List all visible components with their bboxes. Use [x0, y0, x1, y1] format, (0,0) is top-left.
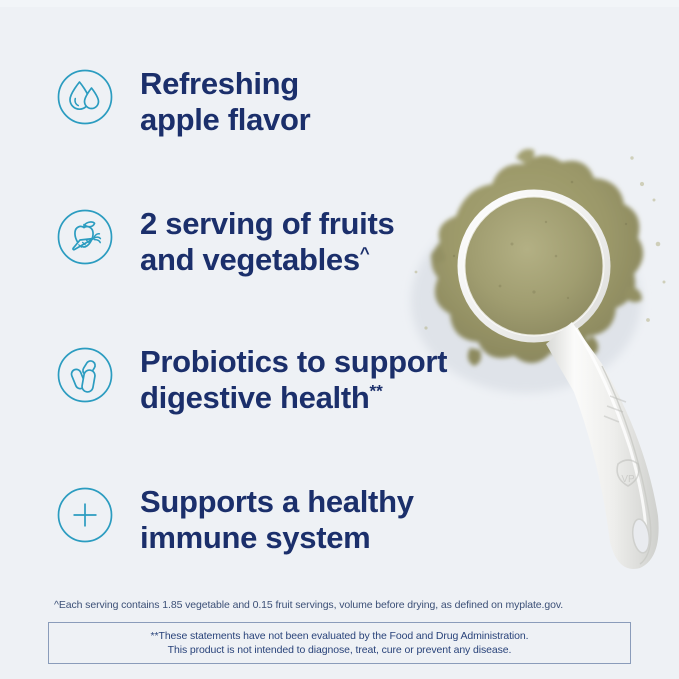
- feature-superscript: ^: [360, 244, 370, 263]
- plus-icon: [56, 486, 114, 544]
- feature-line-2: digestive health**: [140, 380, 447, 416]
- feature-line-1: 2 serving of fruits: [140, 206, 394, 241]
- feature-label: Probiotics to support digestive health**: [140, 344, 447, 416]
- feature-label: Supports a healthy immune system: [140, 484, 414, 556]
- product-infographic: VP Refreshing apple flavor: [0, 0, 679, 679]
- fda-disclaimer-line-2: This product is not intended to diagnose…: [168, 643, 512, 657]
- water-drops-icon: [56, 68, 114, 126]
- fda-disclaimer-line-1: **These statements have not been evaluat…: [151, 629, 529, 643]
- feature-item-servings: 2 serving of fruits and vegetables^: [56, 206, 394, 278]
- apple-carrot-icon: [56, 208, 114, 266]
- feature-line-2: and vegetables^: [140, 242, 394, 278]
- feature-line-2: apple flavor: [140, 102, 310, 138]
- feature-label: Refreshing apple flavor: [140, 66, 310, 138]
- feature-line-2-text: and vegetables: [140, 242, 360, 277]
- feature-line-2: immune system: [140, 520, 414, 556]
- probiotic-capsules-icon: [56, 346, 114, 404]
- feature-item-probiotics: Probiotics to support digestive health**: [56, 344, 447, 416]
- fda-disclaimer-box: **These statements have not been evaluat…: [48, 622, 631, 664]
- handle-marking: VP: [621, 474, 635, 485]
- feature-label: 2 serving of fruits and vegetables^: [140, 206, 394, 278]
- feature-item-flavor: Refreshing apple flavor: [56, 66, 310, 138]
- feature-line-1: Refreshing: [140, 66, 299, 101]
- top-edge-strip: [0, 0, 679, 7]
- feature-line-2-text: digestive health: [140, 380, 370, 415]
- feature-item-immune: Supports a healthy immune system: [56, 484, 414, 556]
- feature-line-1: Probiotics to support: [140, 344, 447, 379]
- feature-superscript: **: [370, 382, 383, 401]
- feature-line-1: Supports a healthy: [140, 484, 414, 519]
- serving-footnote: ^Each serving contains 1.85 vegetable an…: [54, 598, 634, 612]
